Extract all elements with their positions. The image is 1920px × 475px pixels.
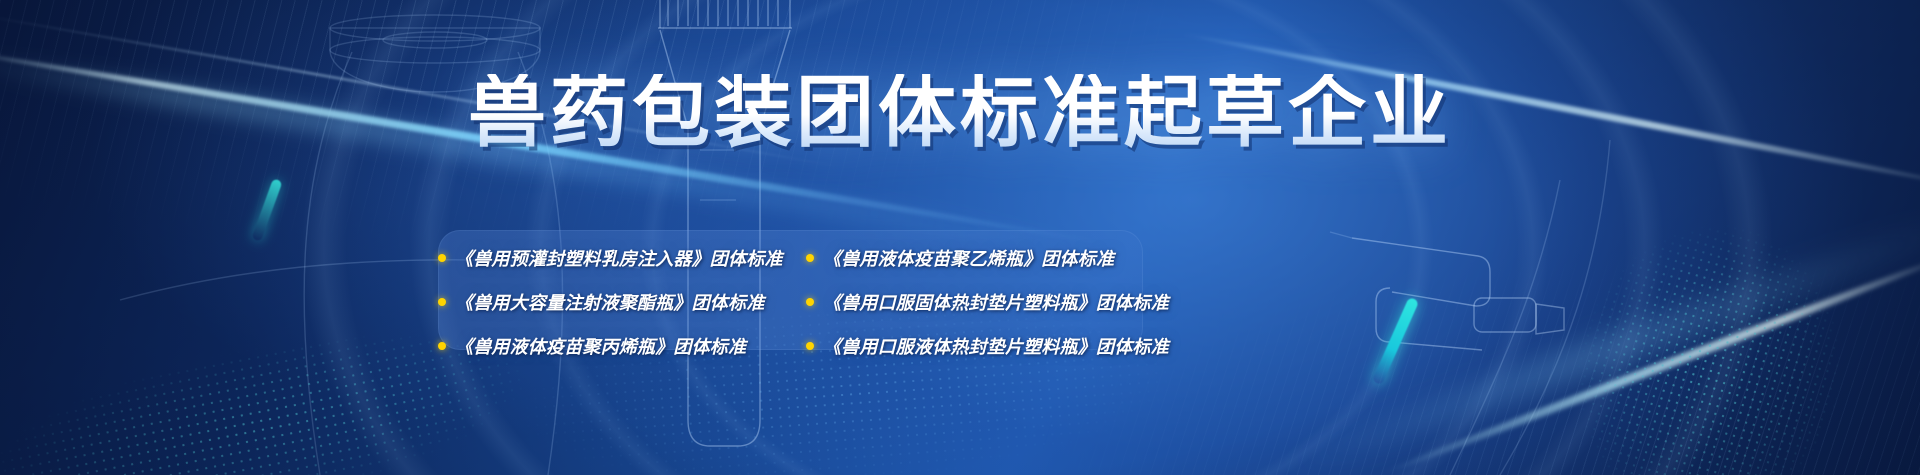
list-item: 《兽用液体疫苗聚乙烯瓶》团体标准 [806, 245, 1153, 271]
list-item-label: 《兽用液体疫苗聚乙烯瓶》团体标准 [823, 245, 1114, 271]
list-item-label: 《兽用液体疫苗聚丙烯瓶》团体标准 [455, 333, 746, 359]
list-item: 《兽用液体疫苗聚丙烯瓶》团体标准 [438, 333, 806, 359]
list-item: 《兽用预灌封塑料乳房注入器》团体标准 [438, 245, 806, 271]
list-item-label: 《兽用预灌封塑料乳房注入器》团体标准 [455, 245, 783, 271]
bullet-dot-icon [438, 298, 446, 306]
list-item-label: 《兽用口服固体热封垫片塑料瓶》团体标准 [823, 289, 1169, 315]
list-item: 《兽用大容量注射液聚酯瓶》团体标准 [438, 289, 806, 315]
bullet-dot-icon [438, 342, 446, 350]
list-item: 《兽用口服液体热封垫片塑料瓶》团体标准 [806, 333, 1153, 359]
list-item-label: 《兽用大容量注射液聚酯瓶》团体标准 [455, 289, 764, 315]
banner-content: 兽药包装团体标准起草企业 《兽用预灌封塑料乳房注入器》团体标准 《兽用液体疫苗聚… [0, 0, 1920, 475]
bullet-dot-icon [806, 254, 814, 262]
list-item-label: 《兽用口服液体热封垫片塑料瓶》团体标准 [823, 333, 1169, 359]
banner-title: 兽药包装团体标准起草企业 [0, 74, 1920, 152]
list-item: 《兽用口服固体热封垫片塑料瓶》团体标准 [806, 289, 1153, 315]
bullet-dot-icon [806, 298, 814, 306]
bullet-dot-icon [438, 254, 446, 262]
standards-list: 《兽用预灌封塑料乳房注入器》团体标准 《兽用液体疫苗聚乙烯瓶》团体标准 《兽用大… [438, 236, 1153, 368]
promo-banner: 兽药包装团体标准起草企业 《兽用预灌封塑料乳房注入器》团体标准 《兽用液体疫苗聚… [0, 0, 1920, 475]
bullet-dot-icon [806, 342, 814, 350]
